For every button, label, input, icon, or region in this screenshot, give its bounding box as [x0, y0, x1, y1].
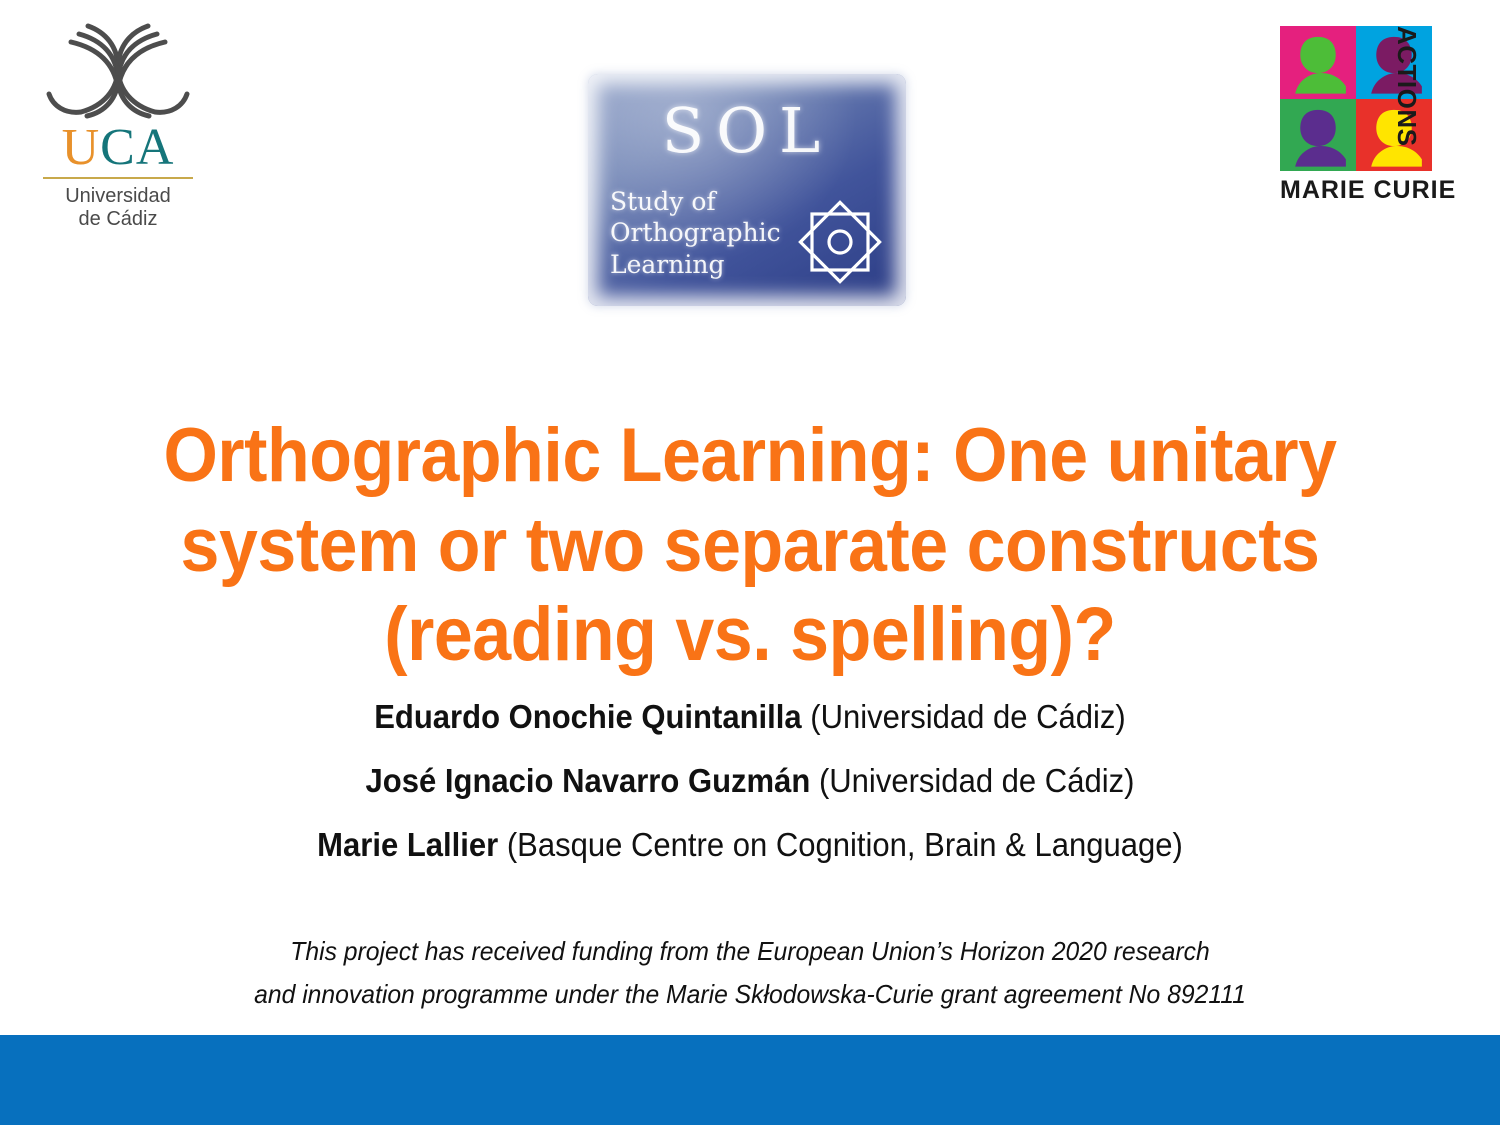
author-affiliation: (Universidad de Cádiz) [810, 698, 1126, 735]
page-title-line-3: (reading vs. spelling)? [147, 590, 1352, 680]
uca-divider [43, 177, 193, 179]
author-entry: Eduardo Onochie Quintanilla (Universidad… [186, 700, 1314, 733]
marie-curie-actions-logo: ACTIONS MARIE CURIE [1280, 26, 1475, 206]
uca-logo: UCA Universidad de Cádiz [28, 20, 208, 245]
author-list: Eduardo Onochie Quintanilla (Universidad… [150, 700, 1350, 861]
popart-cell-1 [1280, 26, 1356, 99]
portrait-silhouette-icon [1280, 26, 1356, 99]
uca-subtitle: Universidad de Cádiz [65, 185, 171, 231]
uca-acronym-u: U [62, 119, 101, 176]
sol-subtitle-line-3: Learning [610, 249, 781, 280]
author-name: Eduardo Onochie Quintanilla [374, 698, 810, 735]
page-title-line-2: system or two separate constructs [147, 501, 1352, 591]
sol-project-logo: SOL Study of Orthographic Learning [588, 74, 906, 306]
octagram-star-icon [790, 192, 890, 292]
sol-logo-subtitle: Study of Orthographic Learning [610, 186, 781, 280]
title-slide: UCA Universidad de Cádiz SOL Study of Or… [0, 0, 1500, 1125]
portrait-silhouette-icon [1280, 99, 1356, 172]
sol-logo-title: SOL [588, 94, 906, 167]
popart-cell-3 [1280, 99, 1356, 172]
funding-line-1: This project has received funding from t… [180, 930, 1320, 973]
marie-curie-name-label: MARIE CURIE [1280, 176, 1475, 205]
page-title-line-1: Orthographic Learning: One unitary [147, 411, 1352, 501]
funding-line-2: and innovation programme under the Marie… [180, 973, 1320, 1016]
uca-acronym-ca: CA [100, 119, 174, 176]
author-entry: José Ignacio Navarro Guzmán (Universidad… [186, 764, 1314, 797]
marie-curie-actions-label: ACTIONS [1394, 26, 1420, 174]
sol-subtitle-line-2: Orthographic [610, 217, 781, 248]
author-affiliation: (Universidad de Cádiz) [819, 762, 1135, 799]
page-title: Orthographic Learning: One unitary syste… [147, 411, 1352, 680]
uca-subtitle-line-2: de Cádiz [65, 208, 171, 231]
marie-curie-grid-wrapper: ACTIONS [1280, 26, 1475, 174]
author-name: José Ignacio Navarro Guzmán [366, 762, 819, 799]
footer-color-band [0, 1035, 1500, 1125]
funding-acknowledgement: This project has received funding from t… [150, 930, 1350, 1016]
author-entry: Marie Lallier (Basque Centre on Cognitio… [186, 828, 1314, 861]
uca-acronym: UCA [62, 122, 175, 174]
uca-emblem-icon [43, 20, 193, 120]
author-name: Marie Lallier [317, 826, 507, 863]
sol-subtitle-line-1: Study of [610, 186, 781, 217]
author-affiliation: (Basque Centre on Cognition, Brain & Lan… [507, 826, 1183, 863]
uca-subtitle-line-1: Universidad [65, 185, 171, 208]
